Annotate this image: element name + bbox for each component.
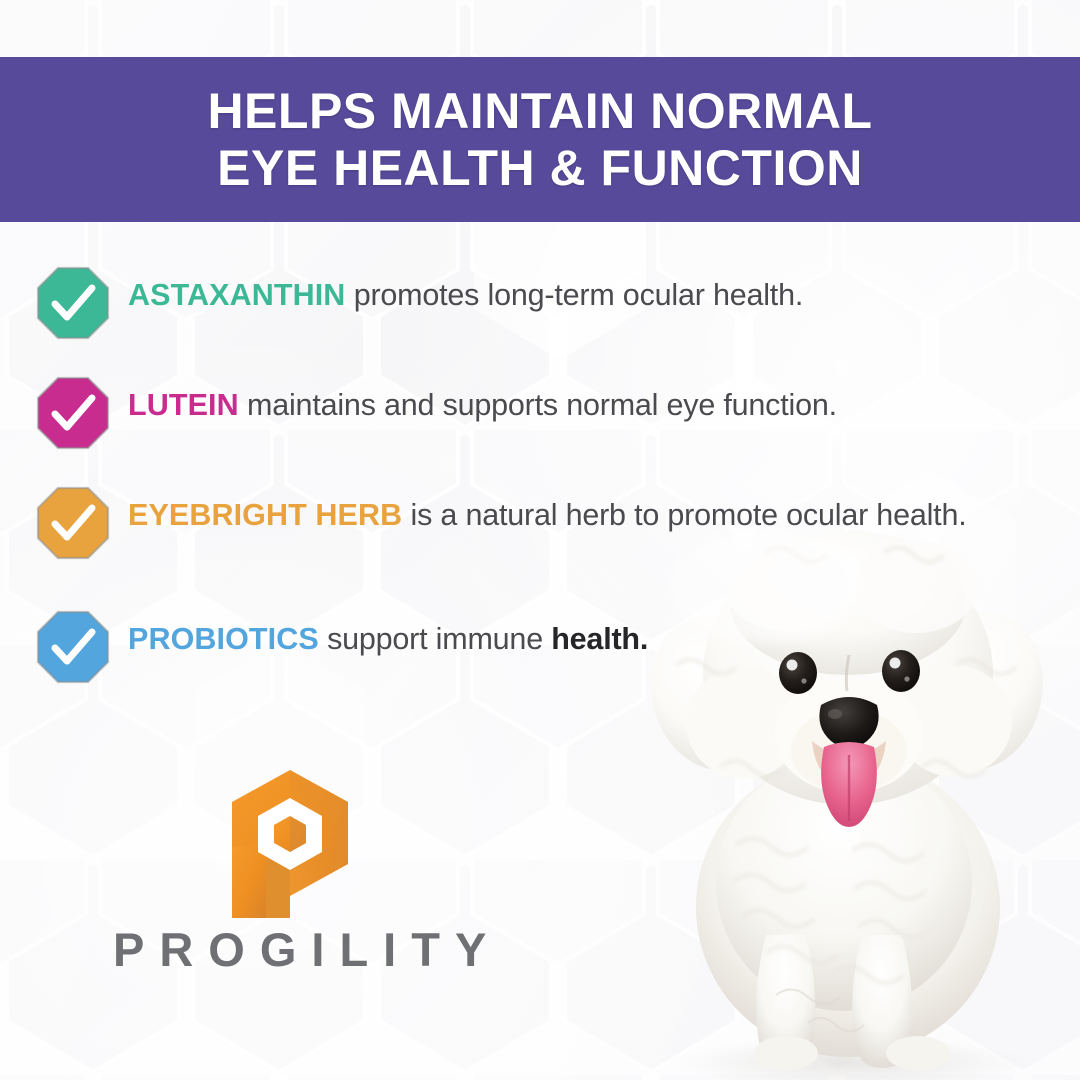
- benefit-item-astaxanthin: ASTAXANTHIN promotes long-term ocular he…: [36, 266, 1046, 352]
- benefit-text-lutein: LUTEIN maintains and supports normal eye…: [36, 376, 1046, 426]
- benefit-body: is a natural herb to promote ocular heal…: [402, 498, 966, 532]
- check-octagon-icon-magenta: [36, 376, 110, 450]
- benefit-body: support immune: [319, 622, 551, 656]
- infographic-canvas: HELPS MAINTAIN NORMAL EYE HEALTH & FUNCT…: [0, 0, 1080, 1080]
- benefit-keyword: ASTAXANTHIN: [128, 278, 345, 312]
- benefit-keyword: PROBIOTICS: [128, 622, 319, 656]
- progility-hexagon-p-logo-icon: [226, 768, 354, 920]
- check-octagon-icon-green: [36, 266, 110, 340]
- benefit-text-eyebright-herb: EYEBRIGHT HERB is a natural herb to prom…: [36, 486, 1046, 536]
- benefit-keyword: EYEBRIGHT HERB: [128, 498, 402, 532]
- check-octagon-icon-blue: [36, 610, 110, 684]
- benefit-body: maintains and supports normal eye functi…: [239, 388, 837, 422]
- benefit-keyword: LUTEIN: [128, 388, 239, 422]
- benefit-item-lutein: LUTEIN maintains and supports normal eye…: [36, 376, 1046, 462]
- brand-logo: PROGILITY: [113, 768, 513, 973]
- benefit-body-emphasis: health.: [551, 622, 648, 656]
- banner-title-line-1: HELPS MAINTAIN NORMAL: [207, 83, 872, 140]
- benefits-list: ASTAXANTHIN promotes long-term ocular he…: [36, 266, 1046, 734]
- benefit-item-eyebright-herb: EYEBRIGHT HERB is a natural herb to prom…: [36, 486, 1046, 586]
- brand-wordmark: PROGILITY: [113, 926, 513, 973]
- benefit-item-probiotics: PROBIOTICS support immune health.: [36, 610, 1046, 710]
- banner-title-line-2: EYE HEALTH & FUNCTION: [217, 140, 863, 197]
- benefit-body: promotes long-term ocular health.: [345, 278, 803, 312]
- check-octagon-icon-orange: [36, 486, 110, 560]
- header-banner: HELPS MAINTAIN NORMAL EYE HEALTH & FUNCT…: [0, 57, 1080, 222]
- benefit-text-astaxanthin: ASTAXANTHIN promotes long-term ocular he…: [36, 266, 1046, 316]
- benefit-text-probiotics: PROBIOTICS support immune health.: [36, 610, 1046, 660]
